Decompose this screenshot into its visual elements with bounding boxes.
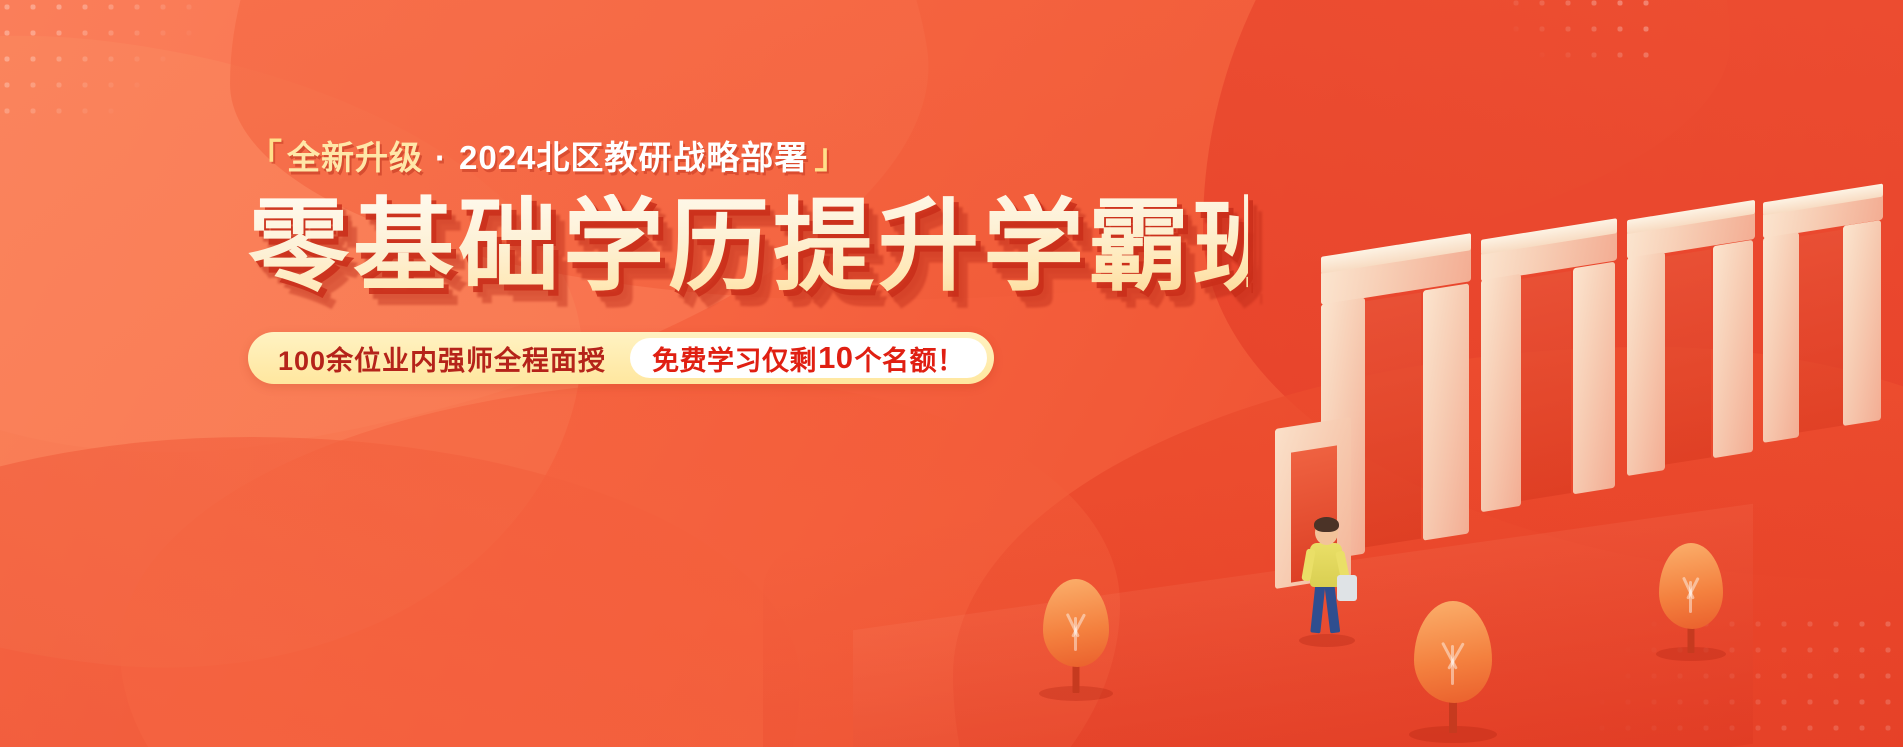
- tree-icon: [1649, 539, 1733, 655]
- dot-pattern-icon: [1503, 0, 1653, 60]
- bracket-close-icon: 」: [814, 140, 849, 174]
- promo-pill: 100余位业内强师全程面授 免费学习仅剩 10 个名额！: [248, 332, 994, 384]
- banner-text-block: 「 全新升级 · 2024北区教研战略部署 」 零基础学历提升学霸班 100余位…: [248, 140, 1248, 384]
- badge-count: 10: [817, 340, 854, 376]
- background-wave-shape: [0, 437, 800, 747]
- subtitle-rest: 2024北区教研战略部署: [459, 141, 808, 174]
- bracket-open-icon: 「: [248, 140, 283, 174]
- status-badge: 免费学习仅剩 10 个名额！: [630, 338, 986, 378]
- promotional-banner: 「 全新升级 · 2024北区教研战略部署 」 零基础学历提升学霸班 100余位…: [0, 0, 1903, 747]
- badge-prefix: 免费学习仅剩: [652, 339, 817, 378]
- tree-icon: [1033, 575, 1119, 695]
- banner-subtitle: 「 全新升级 · 2024北区教研战略部署 」: [248, 140, 1248, 174]
- student-figure: [1293, 497, 1363, 637]
- page-title: 零基础学历提升学霸班: [248, 194, 1248, 300]
- subtitle-highlight: 全新升级: [287, 141, 423, 174]
- promo-pill-label: 100余位业内强师全程面授: [278, 339, 630, 378]
- tree-icon: [1403, 595, 1503, 735]
- badge-suffix: 个名额！: [855, 339, 965, 378]
- dot-pattern-icon: [0, 0, 204, 114]
- subtitle-separator: ·: [435, 141, 447, 174]
- background-wave-shape: [120, 380, 1120, 747]
